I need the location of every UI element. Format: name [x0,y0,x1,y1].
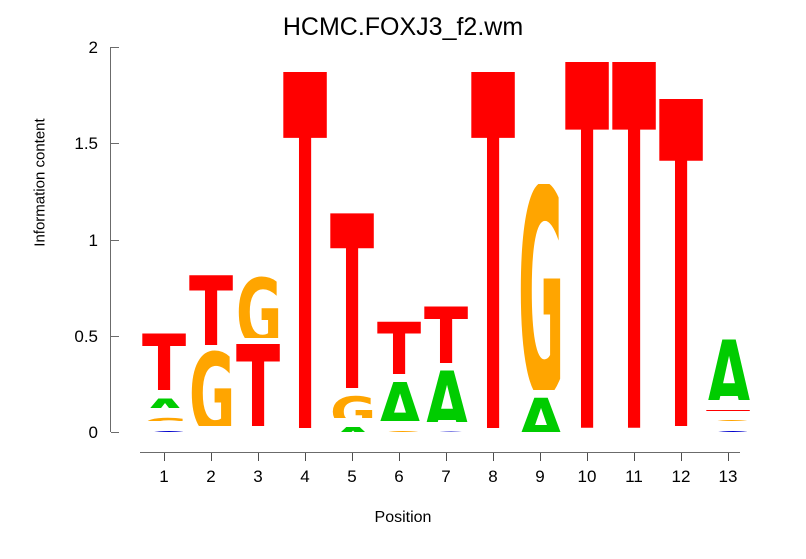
logo-letter-A: A [142,390,186,408]
y-tick-label: 0.5 [62,328,98,345]
y-tick-label: 1.5 [62,135,98,152]
logo-stack: AGT [330,0,374,559]
logo-letter-T: T [565,62,609,428]
logo-stack: AGT [189,0,233,559]
y-tick [111,432,119,433]
logo-letter-G: G [330,388,374,418]
logo-stack: AG [518,0,562,559]
logo-letter-T: T [424,299,468,363]
logo-letter-T: T [377,315,421,375]
logo-letter-G: G [518,184,562,390]
logo-letter-A: A [236,426,280,432]
logo-letter-G: G [236,270,280,337]
logo-letter-T: T [471,72,515,428]
logo-letter-C: C [706,421,750,432]
logo-letter-T: T [612,62,656,428]
y-tick [111,47,119,48]
logo-letter-A: A [189,426,233,432]
logo-letter-G: G [377,421,421,432]
logo-letter-A: A [330,418,374,432]
logo-stack: ATG [236,0,280,559]
logo-letter-A: A [706,332,750,400]
logo-letter-C: C [424,422,468,432]
logo-letter-A: A [471,428,515,432]
logo-letter-T: T [142,326,186,390]
logo-stack: GT [565,0,609,559]
logo-stack: GT [659,0,703,559]
logo-letter-G: G [706,411,750,422]
logo-stack: CAT [424,0,468,559]
logo-letter-A: A [518,390,562,432]
logo-letter-G: G [142,408,186,421]
logo-letter-T: T [659,99,703,426]
y-tick-label: 0 [62,424,98,441]
logo-letter-G: G [283,428,327,432]
logo-letter-G: G [189,345,233,426]
logo-letter-A: A [377,374,421,421]
logo-stack: GT [612,0,656,559]
logo-letter-T: T [189,268,233,345]
y-tick-label: 2 [62,39,98,56]
logo-letter-G: G [659,426,703,432]
logo-letter-T: T [706,400,750,411]
y-tick [111,143,119,144]
y-axis-label: Information content [33,83,48,283]
sequence-logo-figure: HCMC.FOXJ3_f2.wm 00.511.52 Information c… [0,0,806,559]
logo-stack: GAT [377,0,421,559]
logo-letter-A: A [424,363,468,423]
y-tick [111,336,119,337]
logo-stack: CGTA [706,0,750,559]
logo-stack: CGAT [142,0,186,559]
logo-letter-C: C [142,421,186,432]
logo-letter-T: T [330,211,374,388]
logo-letter-T: T [283,72,327,428]
y-tick-label: 1 [62,232,98,249]
logo-letter-T: T [236,338,280,427]
y-tick [111,240,119,241]
logo-letter-G: G [612,428,656,432]
logo-letter-G: G [565,428,609,432]
plot-area: 00.511.52 Information content 1234567891… [0,0,806,559]
logo-stack: AT [471,0,515,559]
logo-stack: GT [283,0,327,559]
